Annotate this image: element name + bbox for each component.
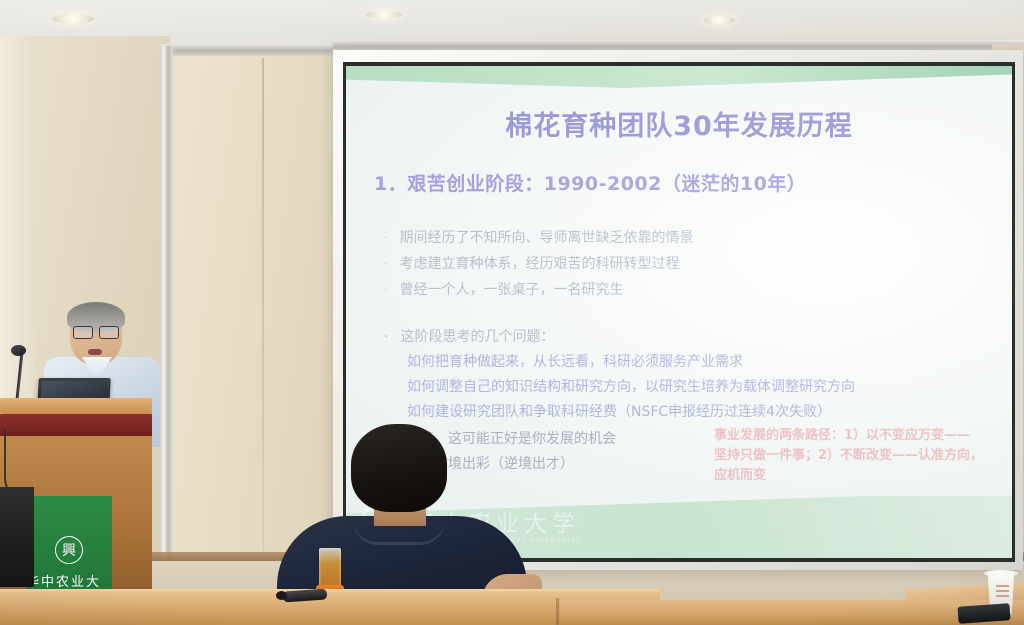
list-item: · 考虑建立育种体系，经历艰苦的科研转型过程 xyxy=(384,252,984,276)
list-item: · 期间经历了不知所向、导师离世缺乏依靠的情景 xyxy=(384,226,984,250)
panel-seam xyxy=(262,58,264,558)
slide-questions-block: · 这阶段思考的几个问题： 如何把育种做起来，从长远看，科研必须服务产业需求 如… xyxy=(384,325,994,425)
question-line: 如何把育种做起来，从长远看，科研必须服务产业需求 xyxy=(407,350,994,375)
slide-top-accent-band xyxy=(346,66,1012,88)
table-seam xyxy=(556,598,559,625)
front-table-right xyxy=(560,600,1024,625)
ceiling-downlight-icon xyxy=(52,14,94,24)
ceiling-downlight-icon xyxy=(703,16,735,25)
slide-bullet-list: · 期间经历了不知所向、导师离世缺乏依靠的情景 · 考虑建立育种体系，经历艰苦的… xyxy=(384,226,984,304)
slide-red-callout: 事业发展的两条路径：1）以不变应万变—— 坚持只做一件事；2）不断改变——认准方… xyxy=(714,426,1002,486)
speaker-mouth xyxy=(88,349,102,355)
floor-speaker-box xyxy=(0,487,34,587)
slide-title: 棉花育种团队30年发展历程 xyxy=(346,104,1012,143)
questions-heading-text: 这阶段思考的几个问题： xyxy=(400,325,554,350)
bullet-dot-icon: · xyxy=(384,278,388,302)
bullet-dot-icon: · xyxy=(384,252,388,276)
bullet-text: 曾经一个人，一张桌子，一名研究生 xyxy=(400,278,624,302)
metal-trim-vertical xyxy=(160,46,173,594)
table-microphone-head-icon xyxy=(276,591,287,600)
paper-cup-print xyxy=(996,585,1009,599)
attendee-head xyxy=(351,424,447,512)
bullet-dot-icon: · xyxy=(384,325,388,350)
questions-lines: 如何把育种做起来，从长远看，科研必须服务产业需求 如何调整自己的知识结构和研究方… xyxy=(407,350,994,425)
red-callout-line: 坚持只做一件事；2）不断改变——认准方向， xyxy=(714,446,1002,466)
red-callout-line: 应机而变 xyxy=(714,466,1002,486)
metal-trim-horizontal xyxy=(160,44,360,56)
university-seal-icon: 興 xyxy=(55,536,83,564)
list-item: · 曾经一个人，一张桌子，一名研究生 xyxy=(384,278,984,302)
eyeglasses-icon xyxy=(73,326,119,337)
questions-heading: · 这阶段思考的几个问题： xyxy=(384,325,994,350)
red-callout-line: 事业发展的两条路径：1）以不变应万变—— xyxy=(714,426,1002,446)
lectern-top xyxy=(0,398,152,414)
podium-microphone-icon xyxy=(11,345,26,356)
question-line: 如何建设研究团队和争取科研经费（NSFC申报经历过连续4次失败） xyxy=(407,400,994,425)
slide-section-heading: 1．艰苦创业阶段：1990-2002（迷茫的10年） xyxy=(374,169,984,196)
ceiling-downlight-icon xyxy=(366,10,402,19)
lecture-hall-photo: 棉花育种团队30年发展历程 1．艰苦创业阶段：1990-2002（迷茫的10年）… xyxy=(0,0,1024,625)
question-line: 如何调整自己的知识结构和研究方向，以研究生培养为载体调整研究方向 xyxy=(407,375,994,400)
attendee-collar xyxy=(353,520,445,545)
bullet-dot-icon: · xyxy=(384,226,388,250)
bullet-text: 考虑建立育种体系，经历艰苦的科研转型过程 xyxy=(400,252,680,276)
bullet-text: 期间经历了不知所向、导师离世缺乏依靠的情景 xyxy=(400,226,694,250)
smartphone xyxy=(957,603,1010,624)
